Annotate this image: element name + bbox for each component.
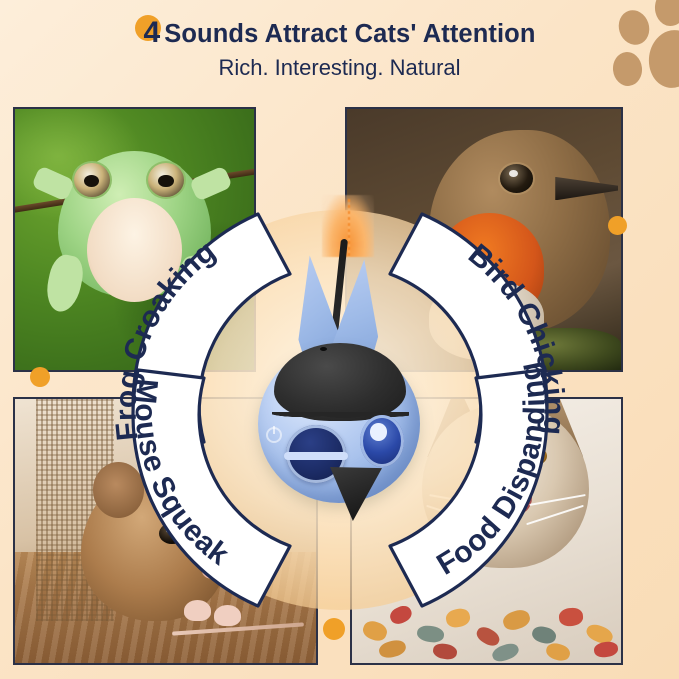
bird-eye-lens [360, 415, 404, 467]
title-text: Sounds Attract Cats' Attention [164, 20, 535, 48]
count-badge: 4 [143, 16, 160, 50]
cap-vent-dot [320, 347, 327, 351]
accent-dot [608, 216, 627, 235]
accent-dot [30, 367, 50, 387]
toy-ball-body [258, 345, 420, 503]
page-subtitle: Rich. Interesting. Natural [0, 55, 679, 81]
badge-number: 4 [143, 16, 160, 49]
product-device [236, 195, 444, 505]
infographic-canvas: 4 Sounds Attract Cats' Attention Rich. I… [0, 0, 679, 679]
power-icon [266, 427, 282, 443]
header: 4 Sounds Attract Cats' Attention Rich. I… [0, 16, 679, 81]
page-title: 4 Sounds Attract Cats' Attention [143, 16, 535, 50]
